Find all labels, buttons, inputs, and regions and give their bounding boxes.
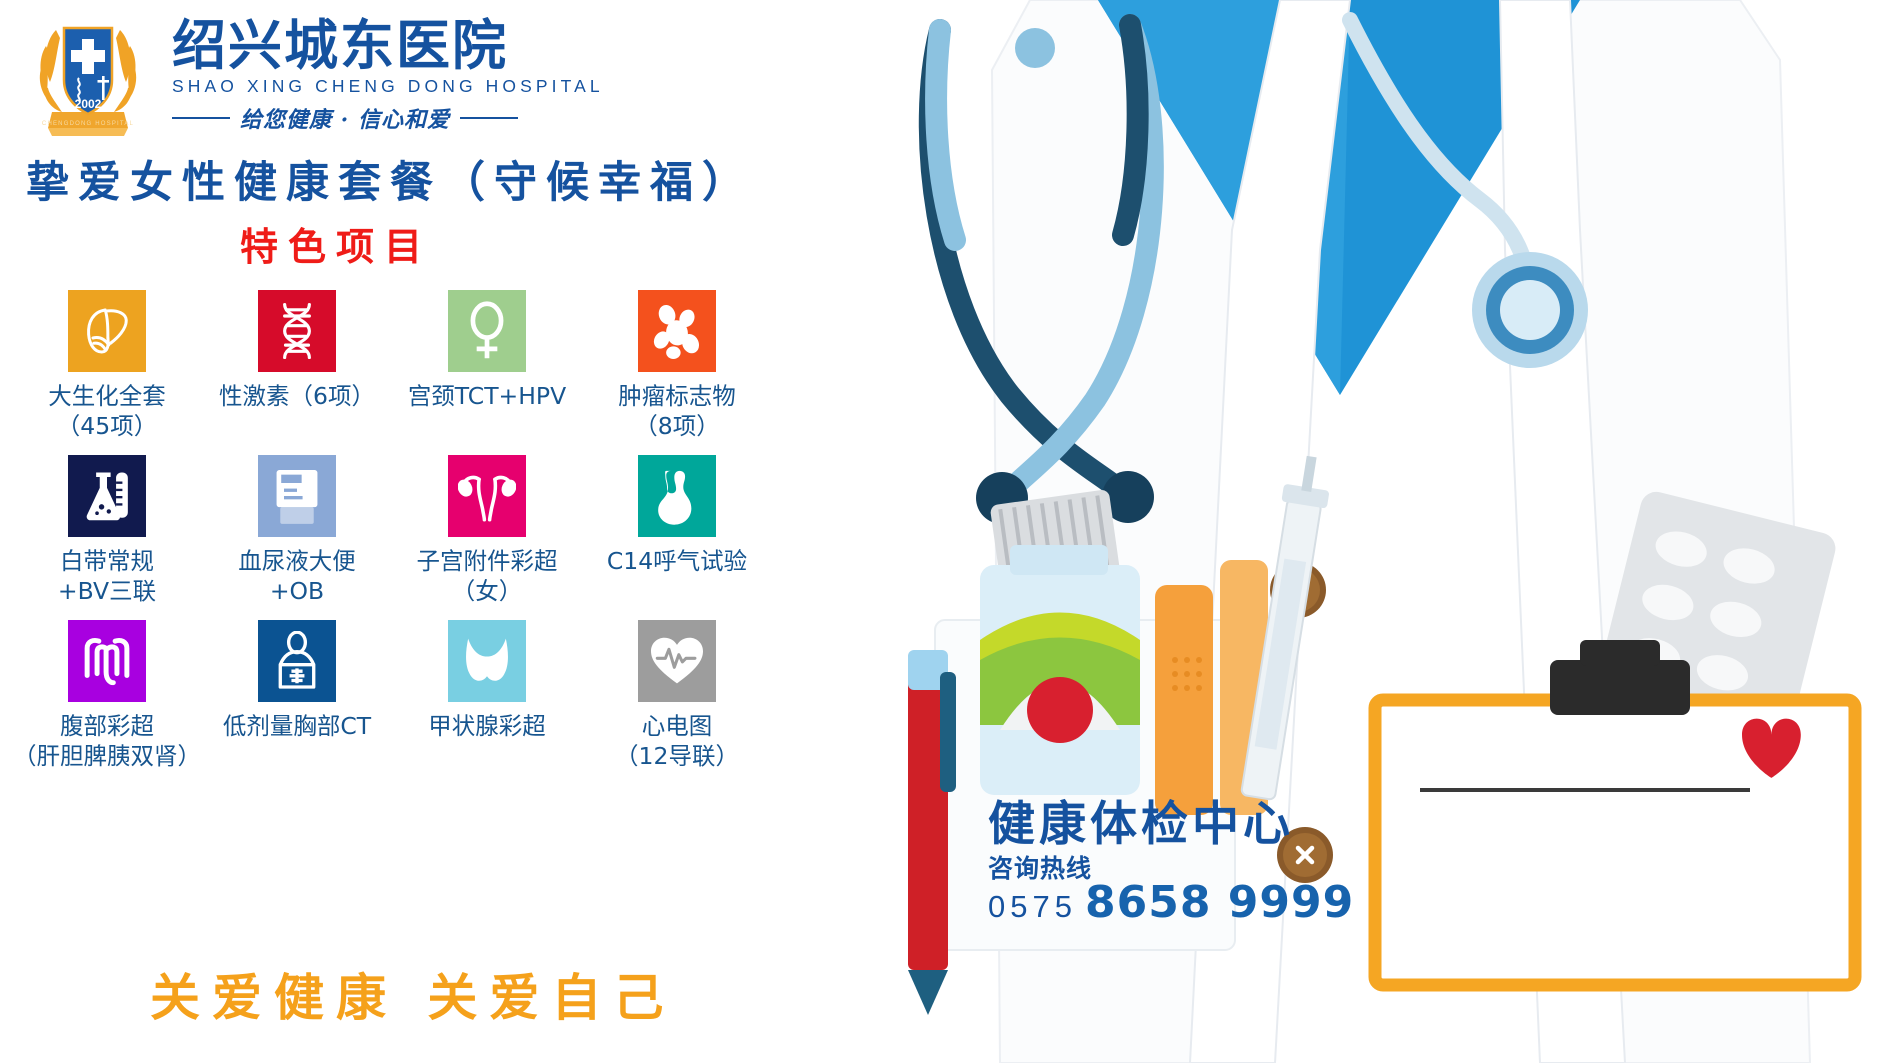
exam-item-label-line1: 甲状腺彩超 [428,712,546,740]
exam-item-label-line1: 白带常规 [60,547,154,575]
brand-slogan-cn: 给您健康 · 信心和爱 [240,102,450,134]
hospital-name-cn: 绍兴城东医院 [172,18,604,73]
left-content-panel: CHENGDONG HOSPITAL 2002 绍兴城东医院 SHAO XING… [0,0,940,1063]
slogan-rule-left [172,117,230,119]
exam-item-label-line2: +OB [238,576,356,606]
featured-items-heading: 特色项目 [240,216,432,271]
exam-item-label-line1: 肿瘤标志物 [618,382,736,410]
phone-number[interactable]: 8658 9999 [1085,881,1354,925]
exam-item-label: 性激素（6项） [219,381,375,411]
health-center-title: 健康体检中心 [988,800,1354,849]
exam-item[interactable]: C14呼气试验 [582,455,772,620]
svg-text:CHENGDONG HOSPITAL: CHENGDONG HOSPITAL [42,121,134,127]
exam-item[interactable]: 白带常规+BV三联 [12,455,202,620]
exam-item-label: 白带常规+BV三联 [58,546,156,606]
exam-item[interactable]: 甲状腺彩超 [392,620,582,785]
tumor-cells-icon [638,290,716,372]
exam-item-label-line1: 宫颈TCT+HPV [408,382,566,410]
dna-icon [258,290,336,372]
slogan-rule-right [460,117,518,119]
thyroid-icon [448,620,526,702]
exam-item-label-line1: 性激素（6项） [219,382,375,410]
exam-item-label: 低剂量胸部CT [223,711,371,741]
exam-item-label-line1: 心电图 [642,712,713,740]
liver-icon [68,290,146,372]
exam-item[interactable]: 性激素（6项） [202,290,392,455]
exam-item[interactable]: 肿瘤标志物（8项） [582,290,772,455]
exam-item-label-line1: 低剂量胸部CT [223,712,371,740]
stomach-icon [638,455,716,537]
hospital-name-en: SHAO XING CHENG DONG HOSPITAL [172,76,604,97]
poster-canvas: CHENGDONG HOSPITAL 2002 绍兴城东医院 SHAO XING… [0,0,1890,1063]
uterus-icon [448,455,526,537]
health-center-contact: 健康体检中心 咨询热线 0575 8658 9999 [988,800,1354,925]
exam-item-label-line1: 腹部彩超 [60,712,154,740]
svg-text:2002: 2002 [75,97,102,111]
brand-slogan-row: 给您健康 · 信心和爱 [172,102,604,134]
crest-emblem-icon: CHENGDONG HOSPITAL 2002 [22,8,154,140]
specimen-cup-icon [258,455,336,537]
exam-item[interactable]: 低剂量胸部CT [202,620,392,785]
exam-item-label-line1: 血尿液大便 [238,547,356,575]
area-code: 0575 [988,889,1077,925]
intestine-icon [68,620,146,702]
hospital-logo: CHENGDONG HOSPITAL 2002 绍兴城东医院 SHAO XING… [22,8,604,140]
exam-item-label: 宫颈TCT+HPV [408,381,566,411]
exam-item-grid: 大生化全套（45项）性激素（6项）宫颈TCT+HPV肿瘤标志物（8项）白带常规+… [12,290,772,785]
exam-item-label-line1: 子宫附件彩超 [417,547,558,575]
flask-icon [68,455,146,537]
exam-item-label: 子宫附件彩超（女） [417,546,558,606]
exam-item[interactable]: 子宫附件彩超（女） [392,455,582,620]
exam-item-label-line2: （8项） [618,411,736,441]
exam-item[interactable]: 腹部彩超（肝胆脾胰双肾） [12,620,202,785]
exam-item-label-line1: 大生化全套 [48,382,166,410]
exam-item-label: 心电图（12导联） [615,711,739,771]
exam-item-label-line2: +BV三联 [58,576,156,606]
exam-item[interactable]: 宫颈TCT+HPV [392,290,582,455]
exam-item-label-line2: （女） [417,576,558,606]
package-title: 挚爱女性健康套餐（守候幸福） [26,148,754,210]
right-illustration-panel: 健康体检中心 咨询热线 0575 8658 9999 [880,0,1890,1063]
chest-xray-icon [258,620,336,702]
female-sign-icon [448,290,526,372]
exam-item-label-line2: （12导联） [615,741,739,771]
exam-item[interactable]: 心电图（12导联） [582,620,772,785]
ecg-heart-icon [638,620,716,702]
exam-item-label: 肿瘤标志物（8项） [618,381,736,441]
exam-item-label: C14呼气试验 [607,546,747,576]
exam-item-label: 血尿液大便+OB [238,546,356,606]
exam-item-label: 腹部彩超（肝胆脾胰双肾） [13,711,201,771]
exam-item[interactable]: 大生化全套（45项） [12,290,202,455]
exam-item-label: 大生化全套（45项） [48,381,166,441]
exam-item-label: 甲状腺彩超 [428,711,546,741]
bottom-slogan: 关爱健康 关爱自己 [150,958,675,1030]
exam-item-label-line1: C14呼气试验 [607,547,747,575]
exam-item-label-line2: （45项） [48,411,166,441]
exam-item[interactable]: 血尿液大便+OB [202,455,392,620]
exam-item-label-line2: （肝胆脾胰双肾） [13,741,201,771]
